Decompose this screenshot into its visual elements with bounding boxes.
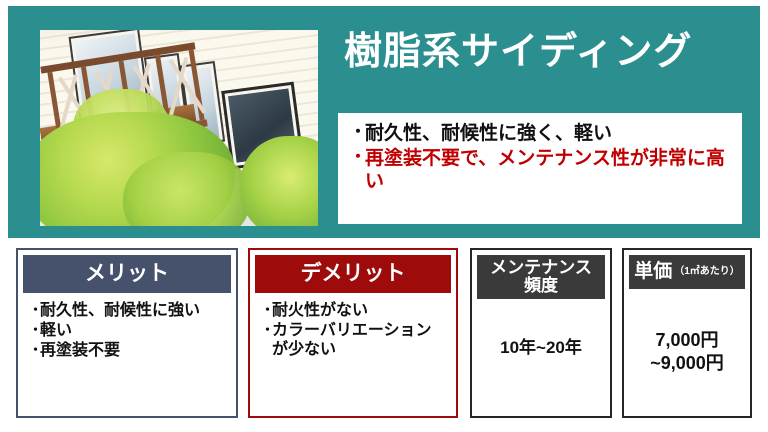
list-item: ・ カラーバリエーションが少ない [261,321,447,359]
card-merit: メリット ・ 耐久性、耐候性に強い ・ 軽い ・ 再塗装不要 [16,248,238,418]
list-item-text: カラーバリエーションが少ない [272,321,447,359]
card-unit-price-title: 単価 （1㎡あたり） [629,255,745,289]
list-item-text: 耐火性がない [272,301,447,320]
bullet-marker-icon: ・ [29,321,40,339]
list-item-text: 耐久性、耐候性に強い [40,301,227,320]
card-unit-price-title-main: 単価 [634,262,672,282]
bullet-marker-icon: ・ [261,321,272,339]
list-item: ・ 耐久性、耐候性に強い [29,301,227,320]
maintenance-frequency-value: 10年~20年 [477,337,605,358]
house-photo [40,30,318,226]
unit-price-value: 7,000円 ~9,000円 [629,329,745,374]
summary-bullet-text: 再塗装不要で、メンテナンス性が非常に高い [365,147,732,193]
summary-bullet-text: 耐久性、耐候性に強く、軽い [365,122,732,145]
card-merit-title: メリット [23,255,231,293]
card-maintenance-frequency: メンテナンス 頻度 10年~20年 [470,248,612,418]
card-demerit-title: デメリット [255,255,451,293]
list-item: ・ 再塗装不要 [29,341,227,360]
card-maintenance-title-line2: 頻度 [524,277,558,295]
list-item-text: 再塗装不要 [40,341,227,360]
card-maintenance-title: メンテナンス 頻度 [477,255,605,299]
card-maintenance-title-line1: メンテナンス [490,259,592,277]
page-title: 樹脂系サイディング [344,32,744,74]
list-item: ・ 耐火性がない [261,301,447,320]
summary-bullet: ・ 耐久性、耐候性に強く、軽い [350,122,732,145]
house-photo-illustration [40,30,318,226]
bullet-marker-icon: ・ [350,147,365,169]
unit-price-line2: ~9,000円 [629,352,745,375]
list-item: ・ 軽い [29,321,227,340]
card-demerit: デメリット ・ 耐火性がない ・ カラーバリエーションが少ない [248,248,458,418]
bullet-marker-icon: ・ [29,341,40,359]
summary-box: ・ 耐久性、耐候性に強く、軽い ・ 再塗装不要で、メンテナンス性が非常に高い [338,113,742,224]
card-merit-body: ・ 耐久性、耐候性に強い ・ 軽い ・ 再塗装不要 [23,293,231,366]
spec-cards-row: メリット ・ 耐久性、耐候性に強い ・ 軽い ・ 再塗装不要 デメリット [0,248,768,420]
unit-price-line1: 7,000円 [629,329,745,352]
bullet-marker-icon: ・ [350,122,365,144]
card-demerit-body: ・ 耐火性がない ・ カラーバリエーションが少ない [255,293,451,365]
infographic-root: 樹脂系サイディング ・ 耐久性、耐候性に強く、軽い ・ 再塗装不要で、メンテナン… [0,0,768,432]
list-item-text: 軽い [40,321,227,340]
bullet-marker-icon: ・ [261,301,272,319]
bullet-marker-icon: ・ [29,301,40,319]
summary-bullet-highlight: ・ 再塗装不要で、メンテナンス性が非常に高い [350,147,732,193]
card-unit-price-title-note: （1㎡あたり） [674,267,740,278]
card-unit-price: 単価 （1㎡あたり） 7,000円 ~9,000円 [622,248,752,418]
